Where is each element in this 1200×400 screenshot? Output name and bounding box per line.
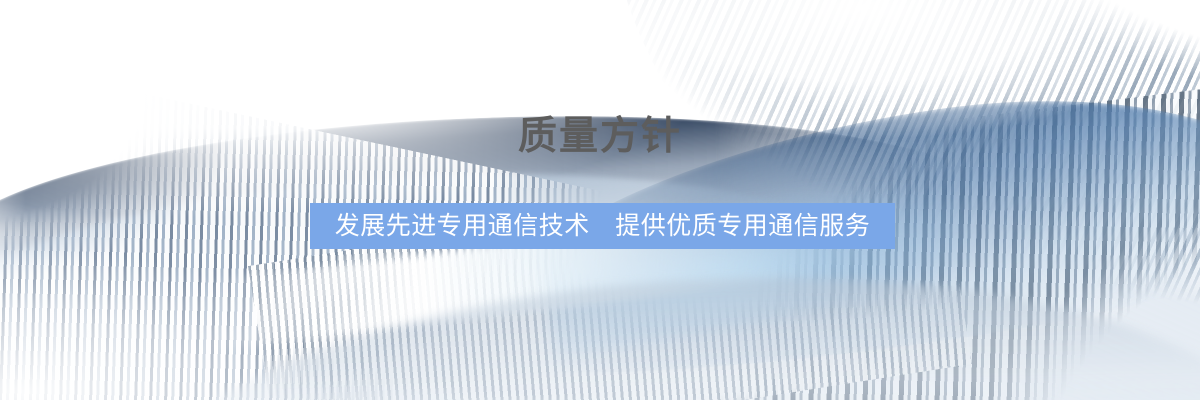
slogan-bar: 发展先进专用通信技术 提供优质专用通信服务 xyxy=(310,203,895,249)
page-title: 质量方针 xyxy=(0,113,1200,161)
banner-content: 质量方针 发展先进专用通信技术 提供优质专用通信服务 xyxy=(0,0,1200,400)
slogan-text: 发展先进专用通信技术 提供优质专用通信服务 xyxy=(335,203,871,249)
quality-policy-banner: 质量方针 发展先进专用通信技术 提供优质专用通信服务 xyxy=(0,0,1200,400)
